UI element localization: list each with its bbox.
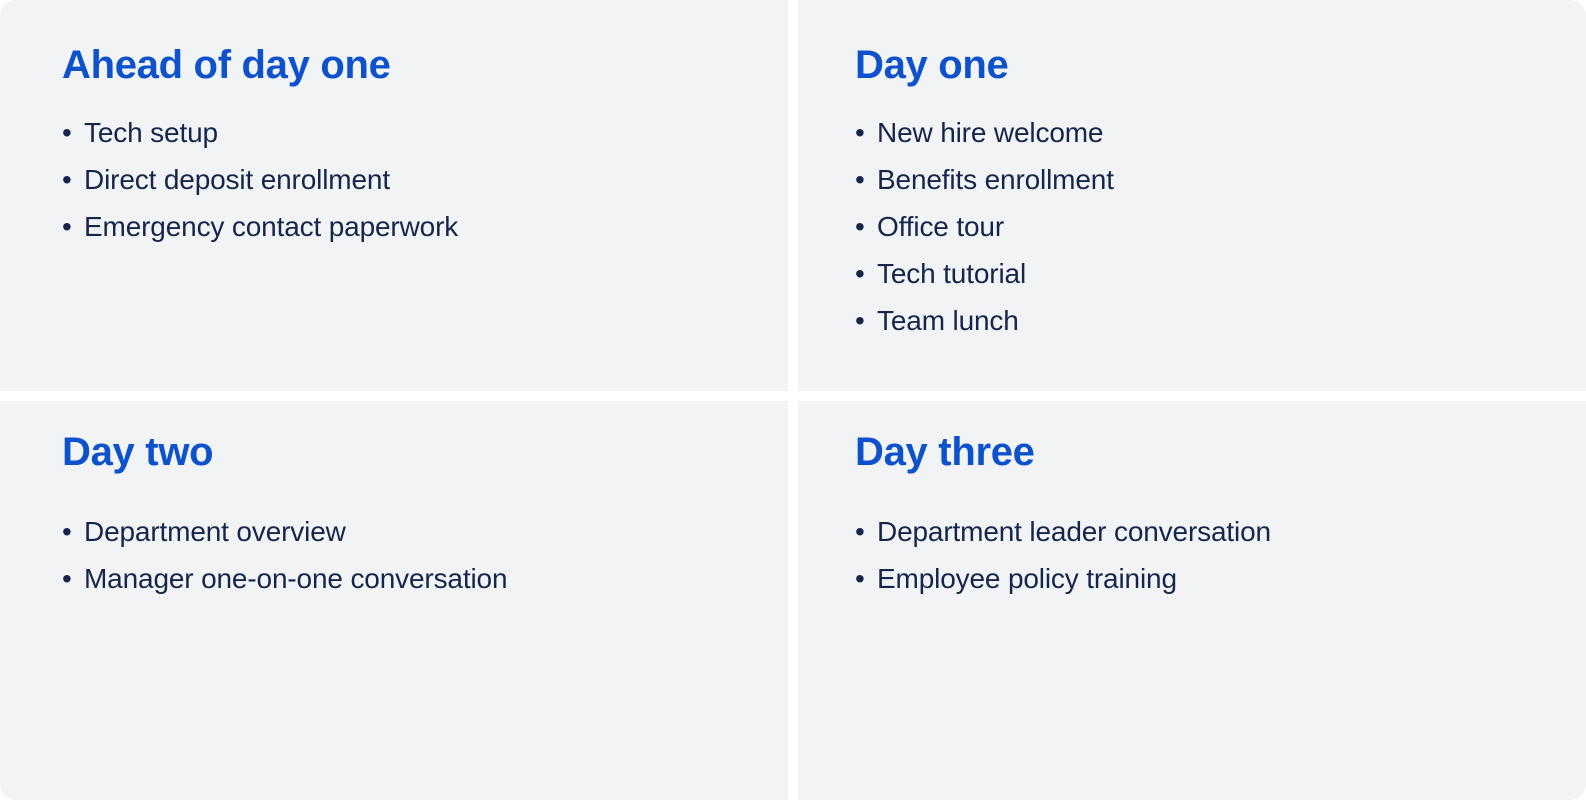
bullet-dot-icon: •	[855, 250, 877, 297]
bullet-dot-icon: •	[855, 297, 877, 344]
card-title: Day three	[855, 431, 1562, 474]
list-item-label: Benefits enrollment	[877, 156, 1114, 203]
list-item-label: Tech setup	[84, 109, 218, 156]
list-item: • Department overview	[62, 508, 764, 555]
bullet-dot-icon: •	[62, 109, 84, 156]
list-item-label: Manager one-on-one conversation	[84, 555, 507, 602]
bullet-dot-icon: •	[62, 156, 84, 203]
bullet-dot-icon: •	[855, 508, 877, 555]
list-item-label: Department leader conversation	[877, 508, 1271, 555]
card-bullet-list: • Department leader conversation • Emplo…	[855, 508, 1562, 602]
card-day-two: Day two • Department overview • Manager …	[0, 396, 793, 800]
list-item-label: Emergency contact paperwork	[84, 203, 458, 250]
card-day-one: Day one • New hire welcome • Benefits en…	[793, 0, 1586, 396]
card-title: Day one	[855, 44, 1562, 87]
card-bullet-list: • New hire welcome • Benefits enrollment…	[855, 109, 1562, 344]
list-item: • Emergency contact paperwork	[62, 203, 764, 250]
list-item: • Employee policy training	[855, 555, 1562, 602]
list-item: • Department leader conversation	[855, 508, 1562, 555]
bullet-dot-icon: •	[62, 555, 84, 602]
list-item-label: Direct deposit enrollment	[84, 156, 390, 203]
bullet-dot-icon: •	[855, 156, 877, 203]
card-title: Ahead of day one	[62, 44, 764, 87]
onboarding-timeline-board: Ahead of day one • Tech setup • Direct d…	[0, 0, 1586, 800]
list-item-label: Tech tutorial	[877, 250, 1026, 297]
list-item: • Tech setup	[62, 109, 764, 156]
bullet-dot-icon: •	[855, 109, 877, 156]
list-item: • New hire welcome	[855, 109, 1562, 156]
card-content: Ahead of day one • Tech setup • Direct d…	[62, 44, 764, 250]
card-title: Day two	[62, 431, 764, 474]
card-content: Day three • Department leader conversati…	[855, 431, 1562, 602]
card-ahead-of-day-one: Ahead of day one • Tech setup • Direct d…	[0, 0, 793, 396]
list-item: • Benefits enrollment	[855, 156, 1562, 203]
list-item: • Office tour	[855, 203, 1562, 250]
list-item: • Manager one-on-one conversation	[62, 555, 764, 602]
card-day-three: Day three • Department leader conversati…	[793, 396, 1586, 800]
card-content: Day one • New hire welcome • Benefits en…	[855, 44, 1562, 344]
bullet-dot-icon: •	[855, 555, 877, 602]
list-item-label: Office tour	[877, 203, 1004, 250]
bullet-dot-icon: •	[62, 508, 84, 555]
card-bullet-list: • Department overview • Manager one-on-o…	[62, 508, 764, 602]
list-item-label: New hire welcome	[877, 109, 1103, 156]
list-item-label: Team lunch	[877, 297, 1019, 344]
list-item-label: Department overview	[84, 508, 346, 555]
bullet-dot-icon: •	[855, 203, 877, 250]
list-item: • Direct deposit enrollment	[62, 156, 764, 203]
bullet-dot-icon: •	[62, 203, 84, 250]
list-item: • Team lunch	[855, 297, 1562, 344]
card-bullet-list: • Tech setup • Direct deposit enrollment…	[62, 109, 764, 250]
list-item-label: Employee policy training	[877, 555, 1177, 602]
card-content: Day two • Department overview • Manager …	[62, 431, 764, 602]
list-item: • Tech tutorial	[855, 250, 1562, 297]
